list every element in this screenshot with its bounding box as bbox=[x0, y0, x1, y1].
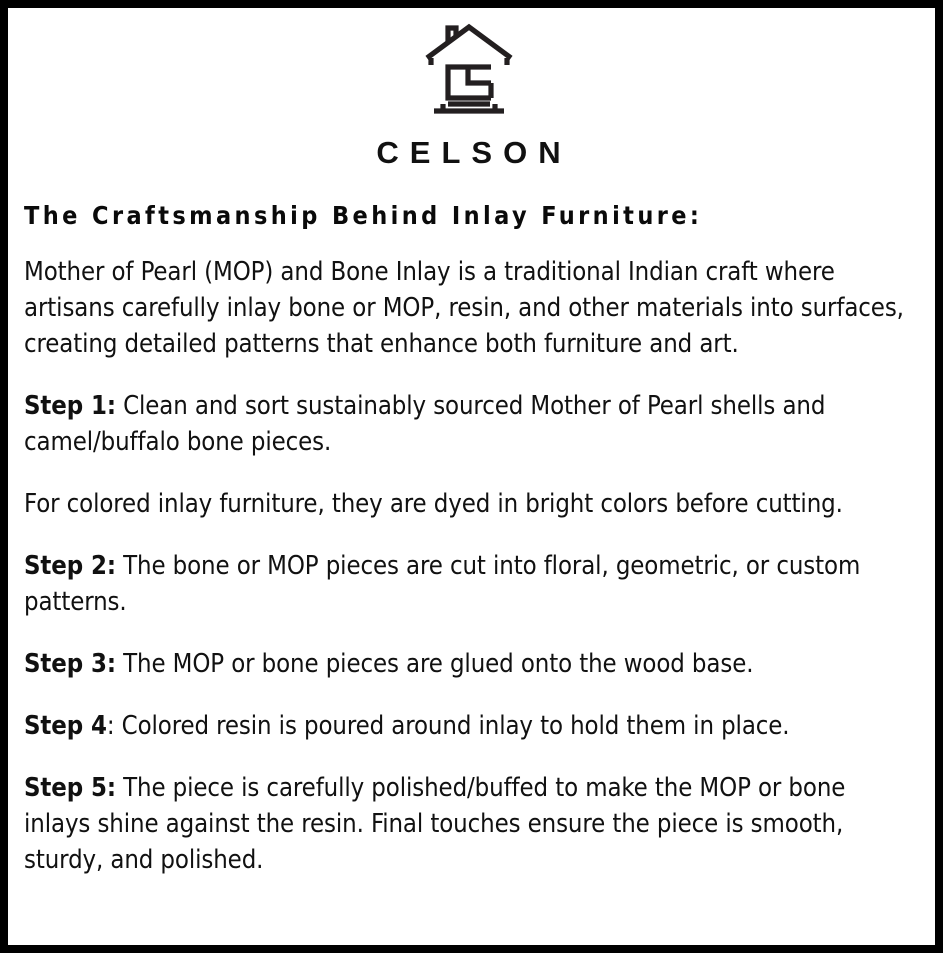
paragraph-text: The bone or MOP pieces are cut into flor… bbox=[24, 551, 860, 617]
brand-header: CELSON bbox=[24, 18, 913, 168]
paragraph-text: The piece is carefully polished/buffed t… bbox=[24, 773, 845, 875]
step-label: Step 4 bbox=[24, 711, 107, 741]
step-label: Step 2: bbox=[24, 551, 116, 581]
paragraph-intro: Mother of Pearl (MOP) and Bone Inlay is … bbox=[24, 254, 908, 362]
paragraph-text: : Colored resin is poured around inlay t… bbox=[107, 711, 790, 741]
poster-card: CELSON The Craftsmanship Behind Inlay Fu… bbox=[0, 0, 943, 953]
paragraph-step-1: Step 1: Clean and sort sustainably sourc… bbox=[24, 388, 908, 460]
paragraph-colored-note: For colored inlay furniture, they are dy… bbox=[24, 486, 908, 522]
step-label: Step 3: bbox=[24, 649, 116, 679]
paragraph-step-3: Step 3: The MOP or bone pieces are glued… bbox=[24, 646, 908, 682]
paragraph-text: Clean and sort sustainably sourced Mothe… bbox=[24, 391, 825, 457]
paragraph-step-5: Step 5: The piece is carefully polished/… bbox=[24, 770, 908, 878]
paragraph-text: Mother of Pearl (MOP) and Bone Inlay is … bbox=[24, 257, 904, 359]
paragraph-step-4: Step 4: Colored resin is poured around i… bbox=[24, 708, 908, 744]
step-label: Step 5: bbox=[24, 773, 116, 803]
poster-inner: CELSON The Craftsmanship Behind Inlay Fu… bbox=[8, 8, 935, 945]
brand-name: CELSON bbox=[24, 137, 913, 168]
step-label: Step 1: bbox=[24, 391, 116, 421]
paragraph-step-2: Step 2: The bone or MOP pieces are cut i… bbox=[24, 548, 908, 620]
page-title: The Craftsmanship Behind Inlay Furniture… bbox=[24, 202, 913, 230]
paragraph-text: For colored inlay furniture, they are dy… bbox=[24, 489, 843, 519]
body-content: Mother of Pearl (MOP) and Bone Inlay is … bbox=[24, 254, 913, 878]
house-with-s-monogram-icon bbox=[421, 20, 517, 120]
paragraph-text: The MOP or bone pieces are glued onto th… bbox=[116, 649, 754, 679]
